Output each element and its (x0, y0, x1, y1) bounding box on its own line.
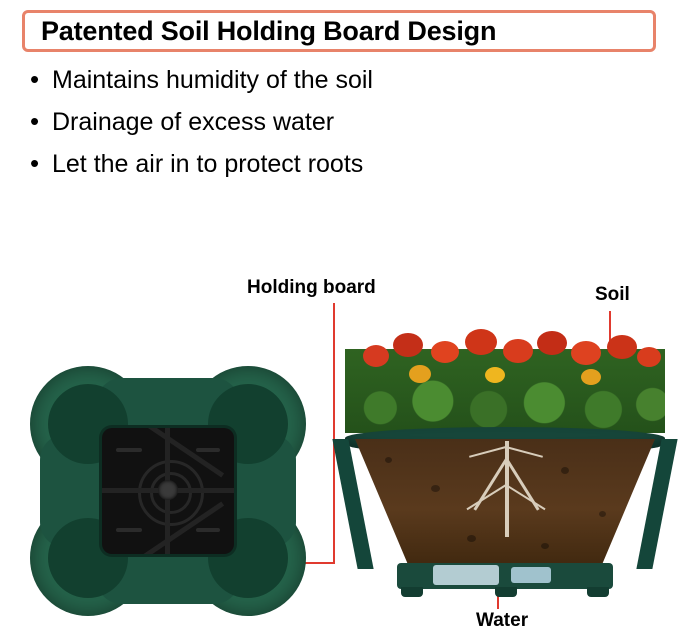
bloom (581, 369, 601, 385)
flower-cluster (345, 315, 665, 433)
root-branch (469, 446, 506, 458)
root-branch (506, 446, 543, 458)
bloom (571, 341, 601, 365)
bloom (503, 339, 533, 363)
bullet-icon: • (30, 66, 52, 92)
bloom (637, 347, 661, 367)
callout-label-soil: Soil (595, 284, 630, 306)
soil-speck (561, 467, 569, 474)
list-item: • Drainage of excess water (30, 108, 650, 136)
tray-foot (587, 587, 609, 597)
bullet-icon: • (30, 108, 52, 134)
bloom (409, 365, 431, 383)
plate-center-hole (158, 480, 178, 500)
bloom (485, 367, 505, 383)
soil-speck (599, 511, 606, 517)
water-body (433, 565, 499, 585)
callout-label-holding-board: Holding board (247, 277, 376, 299)
planter-cross-section-photo (345, 315, 665, 595)
list-item: • Let the air in to protect roots (30, 150, 650, 178)
tray-foot (401, 587, 423, 597)
tray-foot (495, 587, 517, 597)
soil-holding-board-photo (22, 360, 314, 622)
water-body-secondary (511, 567, 551, 583)
leader-line-holding-board-vertical (333, 303, 335, 563)
board-center-drainage-plate (102, 428, 234, 554)
soil-speck (431, 485, 440, 492)
feature-list: • Maintains humidity of the soil • Drain… (30, 66, 650, 192)
bullet-icon: • (30, 150, 52, 176)
bloom (537, 331, 567, 355)
bloom (393, 333, 423, 357)
figure-area: Holding board Soil Water (0, 255, 679, 635)
page-title: Patented Soil Holding Board Design (41, 18, 496, 45)
list-item-label: Drainage of excess water (52, 108, 334, 136)
soil-speck (541, 543, 549, 549)
bloom (431, 341, 459, 363)
list-item-label: Let the air in to protect roots (52, 150, 363, 178)
plate-vent-4 (196, 528, 220, 532)
bloom (607, 335, 637, 359)
plate-vent-2 (196, 448, 220, 452)
soil-speck (385, 457, 392, 463)
soil-speck (467, 535, 476, 542)
soil-fill (355, 439, 655, 567)
foliage (345, 349, 665, 433)
plate-vent-1 (116, 448, 142, 452)
list-item-label: Maintains humidity of the soil (52, 66, 373, 94)
water-reservoir-tray (397, 563, 613, 589)
root-main (505, 441, 509, 537)
product-infographic: Patented Soil Holding Board Design • Mai… (0, 0, 679, 635)
bloom (465, 329, 497, 355)
callout-label-water: Water (476, 610, 528, 632)
plate-vent-3 (116, 528, 142, 532)
bloom (363, 345, 389, 367)
list-item: • Maintains humidity of the soil (30, 66, 650, 94)
title-banner: Patented Soil Holding Board Design (22, 10, 656, 52)
